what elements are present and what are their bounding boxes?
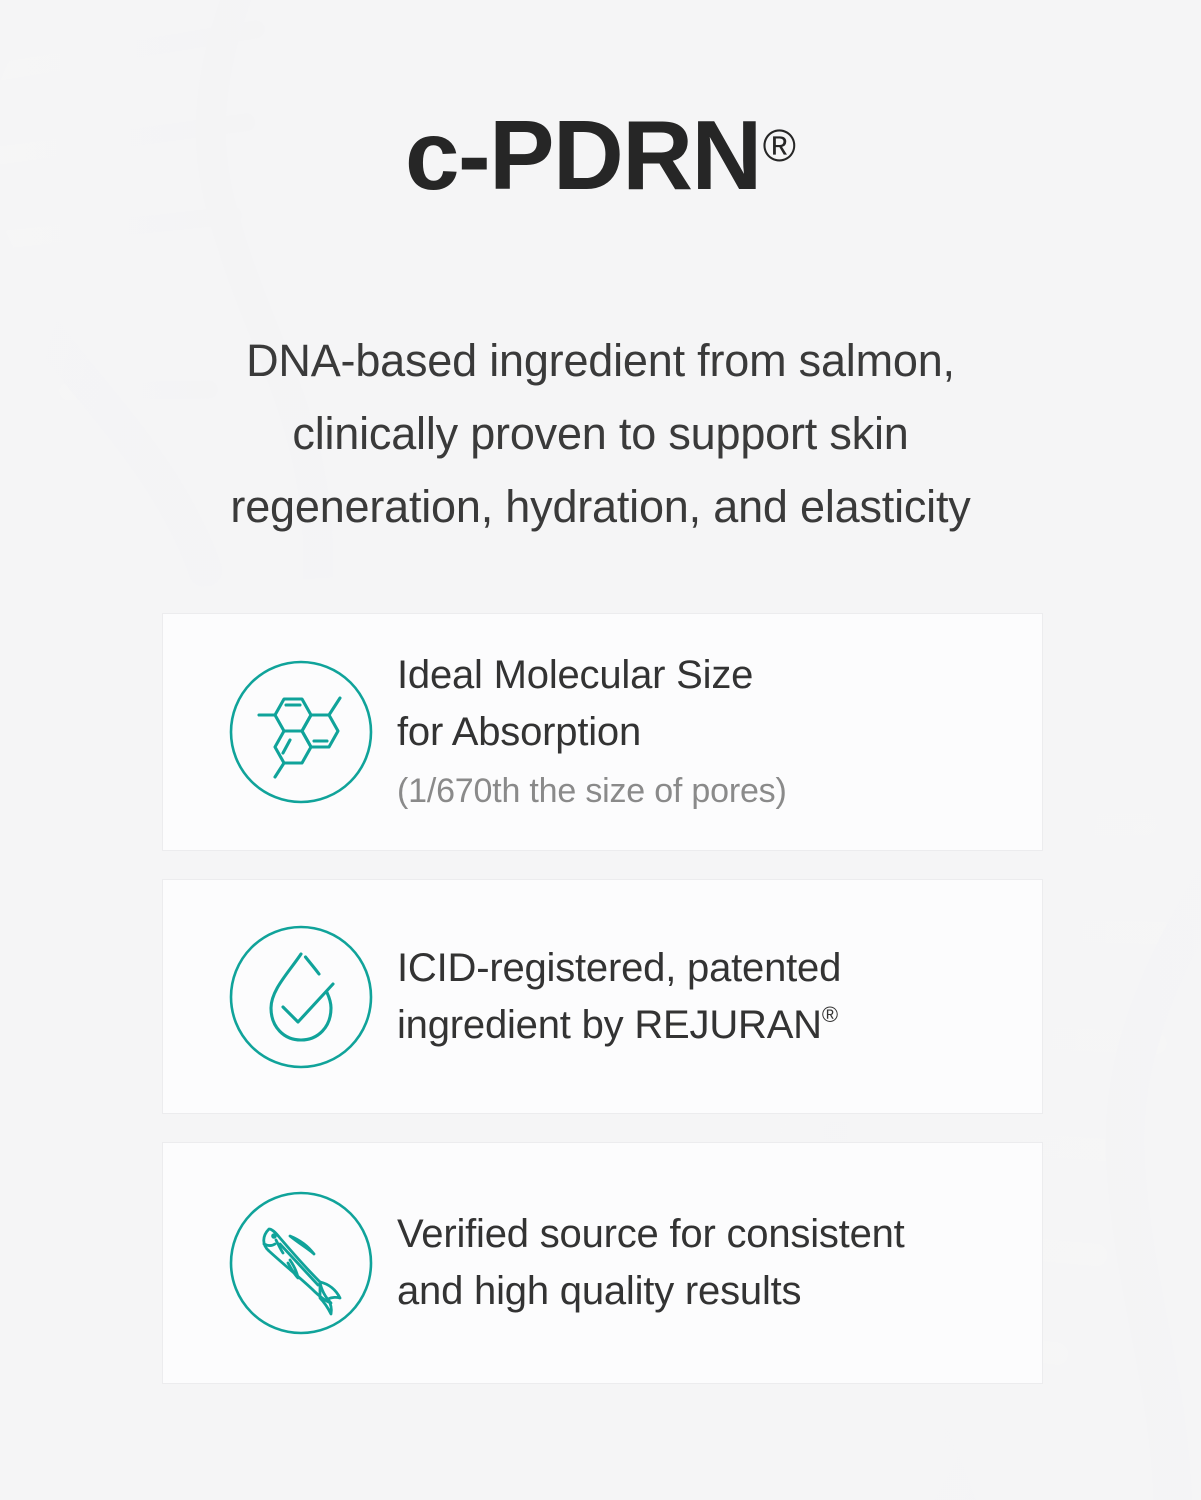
feature-card-text: Verified source for consistent and high … xyxy=(379,1206,1042,1320)
subtitle-line-1: DNA-based ingredient from salmon, xyxy=(141,325,1061,398)
registered-trademark-icon: ® xyxy=(822,1002,838,1027)
feature-line-1: Ideal Molecular Size xyxy=(397,647,1018,704)
feature-card-molecular-size: Ideal Molecular Size for Absorption (1/6… xyxy=(162,613,1043,851)
feature-card-list: Ideal Molecular Size for Absorption (1/6… xyxy=(162,613,1043,1384)
infographic-page: c-PDRN® DNA-based ingredient from salmon… xyxy=(0,0,1201,1500)
feature-card-icid-registered: ICID-registered, patented ingredient by … xyxy=(162,879,1043,1114)
feature-note: (1/670th the size of pores) xyxy=(397,766,1018,817)
page-title: c-PDRN® xyxy=(0,104,1201,208)
subtitle-line-2: clinically proven to support skin xyxy=(141,398,1061,471)
feature-card-text: ICID-registered, patented ingredient by … xyxy=(379,940,1042,1054)
feature-line-1: ICID-registered, patented xyxy=(397,940,1018,997)
page-subtitle: DNA-based ingredient from salmon, clinic… xyxy=(141,325,1061,544)
feature-line-2-text: ingredient by REJURAN xyxy=(397,1003,822,1047)
feature-line-2: ingredient by REJURAN® xyxy=(397,997,1018,1054)
subtitle-line-3: regeneration, hydration, and elasticity xyxy=(141,471,1061,544)
molecule-icon xyxy=(223,657,379,807)
fish-icon xyxy=(223,1188,379,1338)
water-drop-check-icon xyxy=(223,922,379,1072)
feature-line-2: and high quality results xyxy=(397,1263,1018,1320)
registered-trademark-icon: ® xyxy=(763,120,796,171)
feature-line-1: Verified source for consistent xyxy=(397,1206,1018,1263)
feature-line-2: for Absorption xyxy=(397,704,1018,761)
page-title-text: c-PDRN xyxy=(405,100,761,210)
feature-card-text: Ideal Molecular Size for Absorption (1/6… xyxy=(379,647,1042,818)
feature-card-verified-source: Verified source for consistent and high … xyxy=(162,1142,1043,1384)
